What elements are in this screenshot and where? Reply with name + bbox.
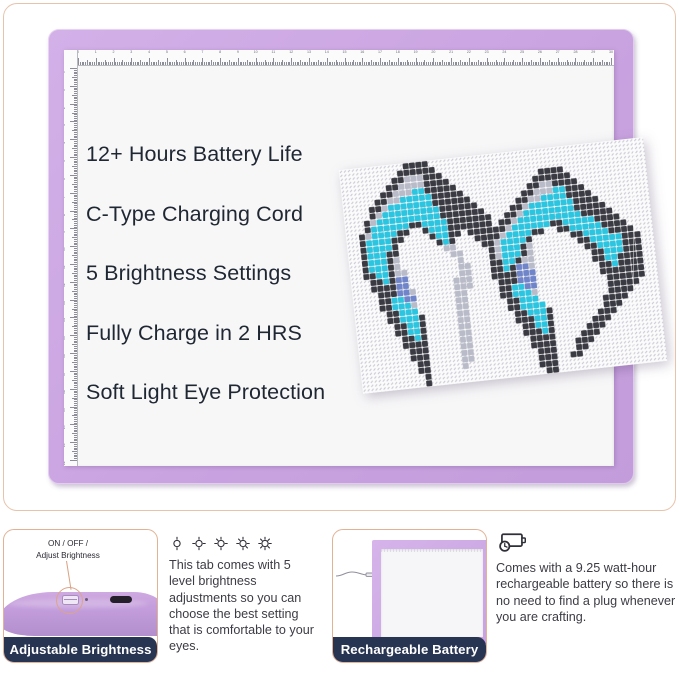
battery-clock-icon [496, 530, 527, 554]
ruler-label: 21 [449, 50, 453, 55]
hero-product-card: 0123456789101112131415161718192021222324… [3, 3, 676, 511]
ruler-label: 16 [64, 354, 66, 358]
ruler-label: 7 [201, 50, 203, 55]
caption-bar-battery: Rechargeable Battery [333, 637, 486, 662]
ruler-label: 6 [184, 50, 186, 55]
ruler-label: 22 [467, 50, 471, 55]
ruler-label: 3 [130, 50, 132, 55]
ruler-label: 20 [64, 426, 66, 430]
brightness-photo: ON / OFF / Adjust Brightness Adjustable … [3, 529, 158, 663]
power-button [62, 595, 79, 605]
ruler-label: 30 [609, 50, 613, 55]
ruler-label: 6 [64, 178, 66, 180]
ruler-label: 12 [64, 283, 66, 287]
ruler-label: 25 [520, 50, 524, 55]
ruler-tick [70, 460, 77, 461]
battery-info-column: Comes with a 9.25 watt-hour rechargeable… [496, 530, 676, 625]
brightness-level-3-icon [213, 535, 229, 552]
brightness-level-1-icon [169, 535, 185, 552]
ruler-label: 12 [289, 50, 293, 55]
light-pad-thumbnail-surface [381, 549, 483, 637]
ruler-label: 0 [64, 71, 66, 73]
ruler-label: 22 [64, 461, 66, 465]
battery-body-text: Comes with a 9.25 watt-hour rechargeable… [496, 560, 676, 625]
ruler-label: 9 [237, 50, 239, 55]
ruler-label: 13 [64, 301, 66, 305]
ruler-label: 21 [64, 443, 66, 447]
ruler-label: 14 [325, 50, 329, 55]
ruler-label: 23 [485, 50, 489, 55]
brightness-level-4-icon [235, 535, 251, 552]
butterfly-artwork-icon [339, 137, 668, 394]
ruler-label: 15 [64, 336, 66, 340]
ruler-label: 10 [254, 50, 258, 55]
ruler-label: 19 [64, 408, 66, 412]
callout-leader-line [66, 561, 72, 590]
light-pad-frame: 0123456789101112131415161718192021222324… [48, 29, 634, 484]
callout-line-1: ON / OFF / [12, 538, 124, 550]
ruler-label: 24 [502, 50, 506, 55]
ruler-label: 3 [64, 125, 66, 127]
usb-c-port [110, 596, 132, 603]
light-pad-thumbnail [372, 540, 487, 644]
callout-line-2: Adjust Brightness [12, 550, 124, 562]
ruler-label: 4 [148, 50, 150, 55]
panel-adjustable-brightness: ON / OFF / Adjust Brightness Adjustable … [3, 518, 323, 675]
ruler-label: 8 [219, 50, 221, 55]
ruler-label: 26 [538, 50, 542, 55]
ruler-label: 11 [64, 265, 66, 269]
ruler-label: 29 [591, 50, 595, 55]
ruler-label: 18 [64, 390, 66, 394]
ruler-label: 16 [360, 50, 364, 55]
brightness-info-column: This tab comes with 5 level brightness a… [169, 530, 319, 655]
battery-photo: Rechargeable Battery [332, 529, 487, 663]
ruler-label: 5 [166, 50, 168, 55]
ruler-label: 1 [95, 50, 97, 55]
brightness-icon-row [169, 530, 319, 552]
feature-item: 12+ Hours Battery Life [86, 142, 416, 167]
ruler-label: 5 [64, 160, 66, 162]
ruler-label: 8 [64, 214, 66, 216]
ruler-label: 9 [64, 231, 66, 233]
light-pad-surface: 0123456789101112131415161718192021222324… [64, 50, 614, 466]
ruler-label: 13 [307, 50, 311, 55]
ruler-label: 17 [64, 372, 66, 376]
brightness-level-2-icon [191, 535, 207, 552]
panel-rechargeable-battery: Rechargeable Battery Comes with a 9.25 w… [332, 518, 676, 675]
ruler-label: 15 [343, 50, 347, 55]
caption-label: Adjustable Brightness [9, 642, 151, 657]
ruler-label: 18 [396, 50, 400, 55]
ruler-tick [611, 58, 612, 65]
ruler-label: 27 [556, 50, 560, 55]
ruler-label: 4 [64, 142, 66, 144]
ruler-label: 11 [272, 50, 276, 55]
ruler-label: 14 [64, 319, 66, 323]
ruler-label: 7 [64, 196, 66, 198]
ruler-label: 10 [64, 247, 66, 251]
brightness-level-5-icon [257, 535, 273, 552]
ruler-label: 1 [64, 89, 66, 91]
brightness-body-text: This tab comes with 5 level brightness a… [169, 557, 319, 655]
feature-panels: ON / OFF / Adjust Brightness Adjustable … [0, 518, 679, 675]
caption-bar-brightness: Adjustable Brightness [4, 637, 157, 662]
ruler-label: 17 [378, 50, 382, 55]
ruler-label: 20 [431, 50, 435, 55]
ruler-label: 28 [573, 50, 577, 55]
horizontal-ruler: 0123456789101112131415161718192021222324… [64, 50, 614, 66]
ruler-label: 19 [414, 50, 418, 55]
caption-label: Rechargeable Battery [341, 642, 479, 657]
ruler-label: 2 [64, 107, 66, 109]
power-button-callout: ON / OFF / Adjust Brightness [12, 538, 124, 561]
ruler-label: 2 [113, 50, 115, 55]
vertical-ruler: 012345678910111213141516171819202122 [64, 50, 78, 466]
diamond-painting-canvas [339, 137, 668, 394]
charging-cable-icon [335, 568, 375, 582]
